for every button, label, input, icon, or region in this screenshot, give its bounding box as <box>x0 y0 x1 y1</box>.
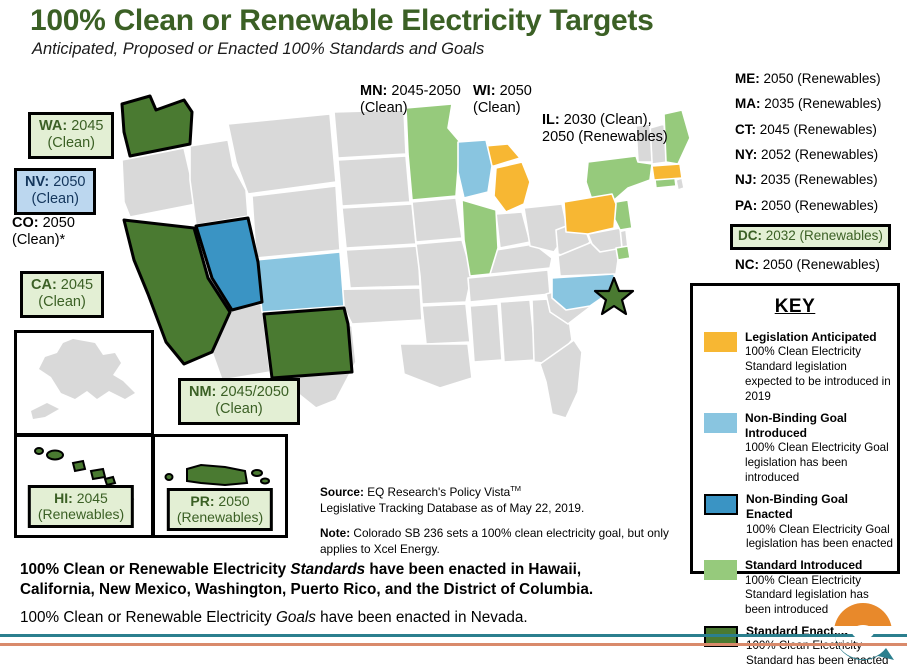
source-note-block: Source: EQ Research's Policy VistaTM Leg… <box>320 484 670 558</box>
legend-swatch-anticipated <box>704 332 737 352</box>
state-list-item-ct: CT: 2045 (Renewables) <box>735 123 907 138</box>
legend-item-goal-introduced: Non-Binding Goal Introduced 100% Clean E… <box>704 411 897 486</box>
statement-standards-emphasis: Standards <box>290 561 365 578</box>
label-nm-value: 2045/2050 <box>216 384 289 400</box>
label-ca: CA: 2045 (Clean) <box>20 271 104 318</box>
legend-text-goal-enacted: Non-Binding Goal Enacted 100% Clean Elec… <box>746 492 897 552</box>
legend-text-goal-introduced: Non-Binding Goal Introduced 100% Clean E… <box>745 411 897 486</box>
label-mn-state: MN: <box>360 83 387 99</box>
footer-rule-salmon <box>0 643 907 646</box>
statement-goals-part1: 100% Clean or Renewable Electricity <box>20 609 276 626</box>
legend-swatch-standard-introduced <box>704 560 737 580</box>
hawaii-shape <box>17 437 145 529</box>
label-nm: NM: 2045/2050 (Clean) <box>178 378 300 425</box>
inset-label-pr-line2: (Renewables) <box>177 509 263 525</box>
state-list-item-ma: MA: 2035 (Renewables) <box>735 97 907 112</box>
state-abbr-nc: NC: <box>735 257 759 272</box>
label-nv: NV: 2050 (Clean) <box>14 168 96 215</box>
source-label: Source: <box>320 485 364 499</box>
state-abbr-ma: MA: <box>735 96 761 111</box>
label-il: IL: 2030 (Clean), 2050 (Renewables) <box>542 112 668 147</box>
note-text: Colorado SB 236 sets a 100% clean electr… <box>320 526 669 556</box>
statement-goals-part2: have been enacted in Nevada. <box>316 609 528 626</box>
legend-text-anticipated: Legislation Anticipated 100% Clean Elect… <box>745 330 897 405</box>
source-text: EQ Research's Policy Vista <box>364 485 510 499</box>
label-wa: WA: 2045 (Clean) <box>28 112 114 159</box>
label-ca-value: 2045 <box>57 277 93 293</box>
alaska-shape <box>17 333 145 427</box>
inset-label-pr-state: PR: <box>190 493 214 509</box>
label-nv-state: NV: <box>25 174 49 190</box>
inset-hawaii <box>14 434 154 538</box>
note-block: Note: Colorado SB 236 sets a 100% clean … <box>320 526 670 558</box>
statement-standards: 100% Clean or Renewable Electricity Stan… <box>20 560 640 601</box>
label-co-line2: (Clean)* <box>12 232 65 248</box>
legend-title-goal-introduced: Non-Binding Goal Introduced <box>745 411 897 442</box>
label-wi-state: WI: <box>473 83 496 99</box>
label-wi-line2: (Clean) <box>473 100 521 116</box>
state-abbr-ct: CT: <box>735 122 756 137</box>
legend-desc-goal-introduced: 100% Clean Electricity Goal legislation … <box>745 441 889 484</box>
legend-desc-anticipated: 100% Clean Electricity Standard legislat… <box>745 345 891 402</box>
label-il-value: 2030 (Clean), <box>560 112 652 128</box>
state-target-list: ME: 2050 (Renewables) MA: 2035 (Renewabl… <box>735 72 907 283</box>
label-mn: MN: 2045-2050 (Clean) <box>360 83 461 118</box>
state-list-item-nj: NJ: 2035 (Renewables) <box>735 173 907 188</box>
state-abbr-me: ME: <box>735 71 760 86</box>
label-wi-value: 2050 <box>496 83 532 99</box>
eq-research-logo <box>828 598 898 666</box>
statement-goals: 100% Clean or Renewable Electricity Goal… <box>20 608 640 628</box>
label-il-state: IL: <box>542 112 560 128</box>
state-value-me: 2050 (Renewables) <box>760 71 881 86</box>
legend-swatch-goal-enacted <box>704 494 738 515</box>
footer-rule-teal <box>0 634 907 637</box>
label-co-value: 2050 <box>39 215 75 231</box>
state-list-item-dc: DC: 2032 (Renewables) <box>730 224 891 250</box>
source-block: Source: EQ Research's Policy VistaTM Leg… <box>320 484 670 517</box>
logo-icon <box>828 598 898 666</box>
state-abbr-ny: NY: <box>735 147 757 162</box>
inset-alaska <box>14 330 154 436</box>
legend-title-anticipated: Legislation Anticipated <box>745 330 897 345</box>
page-title: 100% Clean or Renewable Electricity Targ… <box>30 4 653 38</box>
state-abbr-nj: NJ: <box>735 172 757 187</box>
label-co: CO: 2050 (Clean)* <box>12 215 75 250</box>
inset-label-pr: PR: 2050 (Renewables) <box>167 488 273 531</box>
label-il-line2: 2050 (Renewables) <box>542 129 668 145</box>
state-list-item-nc: NC: 2050 (Renewables) <box>735 258 907 273</box>
state-list-item-ny: NY: 2052 (Renewables) <box>735 148 907 163</box>
legend-item-anticipated: Legislation Anticipated 100% Clean Elect… <box>704 330 897 405</box>
state-value-ny: 2052 (Renewables) <box>757 147 878 162</box>
state-value-nj: 2035 (Renewables) <box>757 172 878 187</box>
map-legend: KEY Legislation Anticipated 100% Clean E… <box>690 283 900 574</box>
label-nm-line2: (Clean) <box>215 401 263 417</box>
state-abbr-pa: PA: <box>735 198 757 213</box>
state-value-pa: 2050 (Renewables) <box>757 198 878 213</box>
label-ca-state: CA: <box>31 277 57 293</box>
legend-item-goal-enacted: Non-Binding Goal Enacted 100% Clean Elec… <box>704 492 897 552</box>
legend-title: KEY <box>693 296 897 318</box>
label-mn-line2: (Clean) <box>360 100 408 116</box>
label-nv-value: 2050 <box>49 174 85 190</box>
state-value-ma: 2035 (Renewables) <box>761 96 882 111</box>
label-wa-value: 2045 <box>67 118 103 134</box>
inset-puerto-rico: PR: 2050 (Renewables) <box>152 434 288 538</box>
statement-standards-part1: 100% Clean or Renewable Electricity <box>20 561 290 578</box>
label-wa-state: WA: <box>39 118 67 134</box>
label-wa-line2: (Clean) <box>47 135 95 151</box>
state-value-dc: 2032 (Renewables) <box>762 228 883 243</box>
legend-title-goal-enacted: Non-Binding Goal Enacted <box>746 492 897 523</box>
state-value-nc: 2050 (Renewables) <box>759 257 880 272</box>
inset-label-pr-value: 2050 <box>215 493 250 509</box>
note-label: Note: <box>320 526 350 540</box>
legend-desc-goal-enacted: 100% Clean Electricity Goal legislation … <box>746 523 893 551</box>
legend-title-standard-introduced: Standard Introduced <box>745 558 897 573</box>
state-value-ct: 2045 (Renewables) <box>756 122 877 137</box>
source-tm: TM <box>510 484 521 493</box>
source-line2: Legislative Tracking Database as of May … <box>320 501 584 515</box>
state-list-item-me: ME: 2050 (Renewables) <box>735 72 907 87</box>
page-subtitle: Anticipated, Proposed or Enacted 100% St… <box>32 40 484 59</box>
label-mn-value: 2045-2050 <box>387 83 460 99</box>
statement-goals-emphasis: Goals <box>276 609 316 626</box>
state-abbr-dc: DC: <box>738 228 762 243</box>
label-wi: WI: 2050 (Clean) <box>473 83 532 118</box>
legend-swatch-goal-introduced <box>704 413 737 433</box>
state-list-item-pa: PA: 2050 (Renewables) <box>735 199 907 214</box>
label-nm-state: NM: <box>189 384 216 400</box>
label-ca-line2: (Clean) <box>38 294 86 310</box>
label-nv-line2: (Clean) <box>31 191 79 207</box>
label-co-state: CO: <box>12 215 39 231</box>
